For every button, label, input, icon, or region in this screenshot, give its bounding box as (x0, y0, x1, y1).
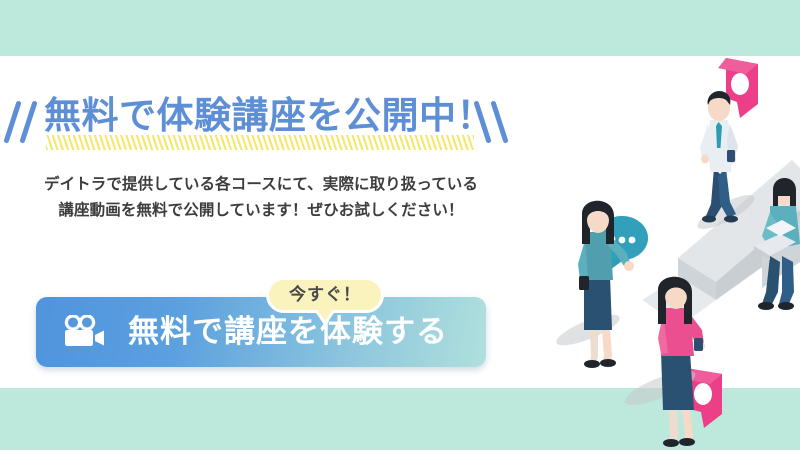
headline-row: 無料で体験講座を公開中！ (0, 90, 530, 152)
cta-badge: 今すぐ！ (266, 277, 384, 313)
content-column: 無料で体験講座を公開中！ デイトラで提供している各コースにて、実際に取り扱ってい… (0, 56, 530, 388)
cta-button-label: 無料で講座を体験する (128, 315, 448, 349)
cta-area: 今すぐ！ 無料で講座を体験する (36, 277, 486, 369)
body-copy: デイトラで提供している各コースにて、実際に取り扱っている 講座動画を無料で公開し… (0, 172, 522, 224)
body-copy-line-2: 講座動画を無料で公開しています！ぜひお試しください！ (0, 198, 522, 224)
promo-banner: 無料で体験講座を公開中！ デイトラで提供している各コースにて、実際に取り扱ってい… (0, 0, 800, 450)
body-copy-line-1: デイトラで提供している各コースにて、実際に取り扱っている (0, 172, 522, 198)
slash-decoration-right-icon (474, 96, 520, 146)
cta-badge-label: 今すぐ！ (289, 285, 361, 305)
headline-wrap: 無料で体験講座を公開中！ (44, 90, 476, 152)
video-camera-icon (62, 315, 106, 349)
free-trial-button[interactable]: 無料で講座を体験する (36, 297, 486, 367)
page-title: 無料で体験講座を公開中！ (44, 90, 476, 142)
slash-decoration-left-icon (6, 96, 48, 146)
isometric-people-illustration (530, 0, 800, 450)
